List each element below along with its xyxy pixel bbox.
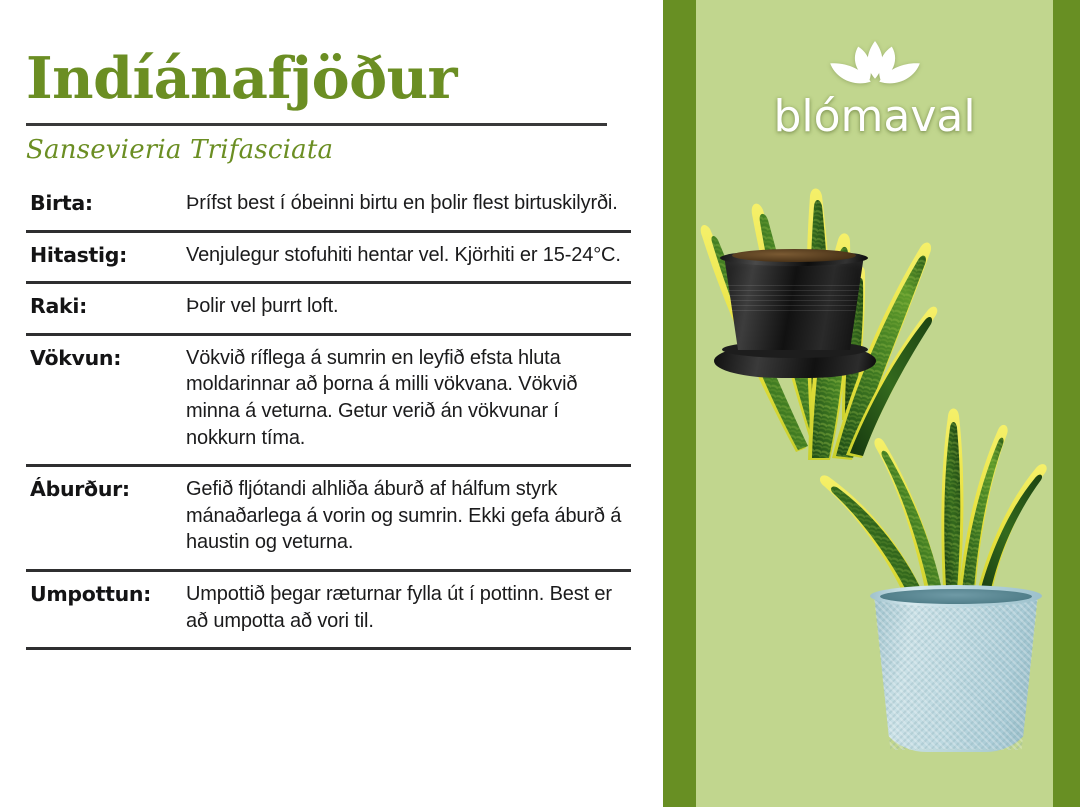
care-label: Birta:: [26, 190, 184, 215]
right-accent-stripe: [1053, 0, 1080, 807]
care-value: Umpottið þegar ræturnar fylla út í potti…: [184, 581, 631, 634]
care-row-raki: Raki: Þolir vel þurrt loft.: [26, 284, 631, 336]
blue-pot-weave-texture: [874, 600, 1038, 750]
care-label: Raki:: [26, 293, 184, 318]
title-divider: [26, 123, 607, 126]
plant-latin-name: Sansevieria Trifasciata: [26, 135, 645, 165]
page-title: Indíánafjöður: [26, 50, 645, 107]
care-instructions-list: Birta: Þrífst best í óbeinni birtu en þo…: [26, 181, 631, 650]
care-value: Vökvið ríflega á sumrin en leyfið efsta …: [184, 345, 631, 451]
care-value: Þolir vel þurrt loft.: [184, 293, 631, 320]
brand-logo: blómaval: [755, 38, 995, 139]
blue-pot-interior: [880, 589, 1032, 604]
care-row-birta: Birta: Þrífst best í óbeinni birtu en þo…: [26, 181, 631, 233]
care-value: Þrífst best í óbeinni birtu en þolir fle…: [184, 190, 631, 217]
care-label: Umpottun:: [26, 581, 184, 606]
product-photo: blómaval: [696, 0, 1053, 807]
lotus-flower-icon: [819, 38, 931, 93]
care-row-aburdur: Áburður: Gefið fljótandi alhliða áburð a…: [26, 467, 631, 572]
care-label: Áburður:: [26, 476, 184, 501]
potting-soil: [732, 249, 856, 262]
care-label: Vökvun:: [26, 345, 184, 370]
care-row-hitastig: Hitastig: Venjulegur stofuhiti hentar ve…: [26, 233, 631, 285]
care-value: Gefið fljótandi alhliða áburð af hálfum …: [184, 476, 631, 556]
black-pot-ribs: [726, 285, 860, 311]
photo-bottom-fade: [696, 747, 1053, 807]
care-row-umpottun: Umpottun: Umpottið þegar ræturnar fylla …: [26, 572, 631, 650]
care-row-vokvun: Vökvun: Vökvið ríflega á sumrin en leyfi…: [26, 336, 631, 467]
care-label: Hitastig:: [26, 242, 184, 267]
brand-wordmark: blómaval: [755, 95, 995, 139]
care-value: Venjulegur stofuhiti hentar vel. Kjörhit…: [184, 242, 631, 269]
brand-photo-panel: blómaval: [663, 0, 1080, 807]
plant-info-panel: Indíánafjöður Sansevieria Trifasciata Bi…: [0, 0, 663, 807]
left-accent-stripe: [663, 0, 696, 807]
plant-care-card: Indíánafjöður Sansevieria Trifasciata Bi…: [0, 0, 1080, 807]
